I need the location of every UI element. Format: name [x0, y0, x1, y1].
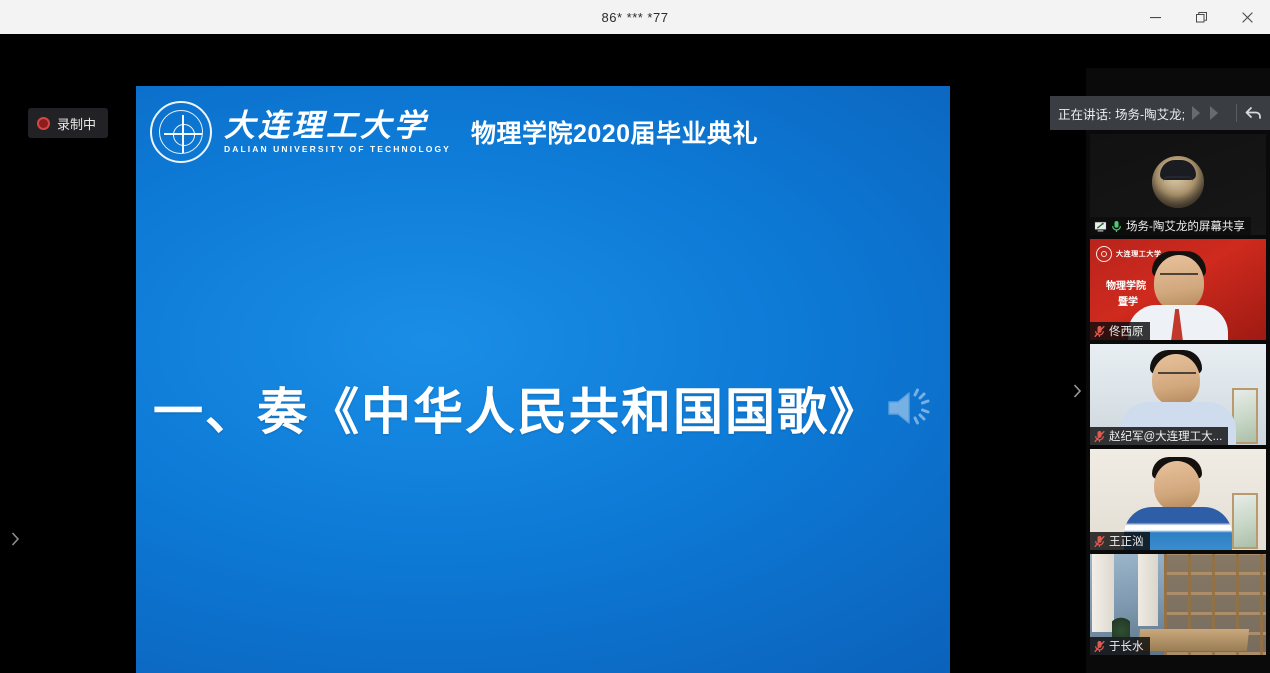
slide-title: 一、奏《中华人民共和国国歌》 — [153, 372, 881, 444]
chevron-right-icon — [1073, 384, 1082, 398]
university-name-cn: 大连理工大学 — [224, 110, 451, 143]
slide-header: 大连理工大学 DALIAN UNIVERSITY OF TECHNOLOGY 物… — [136, 86, 950, 178]
person-glasses — [1160, 273, 1198, 281]
avatar — [1152, 156, 1204, 208]
screen-share-icon — [1094, 221, 1107, 232]
university-logo: 大连理工大学 DALIAN UNIVERSITY OF TECHNOLOGY — [150, 101, 451, 163]
minimize-button[interactable] — [1132, 0, 1178, 34]
active-speaker-bar: 正在讲话: 场务-陶艾龙; — [1050, 96, 1270, 130]
undo-arrow-icon[interactable] — [1245, 105, 1262, 121]
table — [1138, 629, 1249, 651]
participant-label: 佟西原 — [1090, 322, 1150, 340]
participant-label: 于长水 — [1090, 637, 1150, 655]
list-item[interactable]: 王正汹 — [1090, 449, 1266, 550]
person-head — [1152, 354, 1200, 406]
restore-button[interactable] — [1178, 0, 1224, 34]
participant-name: 于长水 — [1109, 638, 1144, 654]
speaker-sound-icon — [885, 384, 933, 432]
minimize-icon — [1150, 12, 1161, 23]
mic-muted-icon — [1094, 535, 1105, 548]
university-wordmark: 大连理工大学 DALIAN UNIVERSITY OF TECHNOLOGY — [224, 110, 451, 155]
university-name-en: DALIAN UNIVERSITY OF TECHNOLOGY — [224, 144, 451, 154]
toolbar-divider — [1236, 104, 1237, 122]
shared-screen-slide[interactable]: 大连理工大学 DALIAN UNIVERSITY OF TECHNOLOGY 物… — [136, 86, 950, 673]
slide-heading: 物理学院2020届毕业典礼 — [471, 114, 758, 150]
title-bar: 86* *** *77 — [0, 0, 1270, 34]
person-glasses — [1158, 372, 1196, 380]
meeting-id-title: 86* *** *77 — [602, 10, 669, 25]
double-chevron-icon[interactable] — [1191, 104, 1226, 122]
recording-dot-icon — [37, 117, 50, 130]
participant-label: 王正汹 — [1090, 532, 1150, 550]
mic-icon — [1111, 220, 1122, 233]
participant-name: 赵纪军@大连理工大... — [1109, 428, 1222, 444]
person-head — [1154, 255, 1204, 311]
meeting-stage: 录制中 大连理工大学 DALIAN UNIVERSITY OF TECHNOLO… — [0, 34, 1270, 673]
participant-name: 王正汹 — [1109, 533, 1144, 549]
mic-muted-icon — [1094, 325, 1105, 338]
meeting-window: 86* *** *77 录制中 — [0, 0, 1270, 673]
window-controls — [1132, 0, 1270, 34]
banner-line-2: 暨学 — [1118, 293, 1138, 308]
participant-label: 场务-陶艾龙的屏幕共享 — [1090, 217, 1251, 235]
list-item[interactable]: 大连理工大学 物理学院 暨学 二〇 — [1090, 239, 1266, 340]
curtain — [1138, 554, 1158, 626]
list-item[interactable]: 赵纪军@大连理工大... — [1090, 344, 1266, 445]
mic-muted-icon — [1094, 430, 1105, 443]
recording-indicator: 录制中 — [28, 108, 108, 138]
person-head — [1154, 461, 1200, 511]
university-seal-icon — [150, 101, 212, 163]
room-mirror — [1232, 493, 1258, 549]
participant-name: 佟西原 — [1109, 323, 1144, 339]
thumbnail-list: 场务-陶艾龙的屏幕共享 大连理工大学 物理学院 暨学 二〇 — [1090, 134, 1266, 659]
slide-title-row: 一、奏《中华人民共和国国歌》 — [136, 372, 950, 444]
chevron-right-icon — [11, 532, 20, 546]
restore-icon — [1196, 12, 1207, 23]
banner-logo: 大连理工大学 — [1096, 246, 1162, 262]
recording-label: 录制中 — [57, 114, 96, 133]
active-speaker-label: 正在讲话: 场务-陶艾龙; — [1058, 104, 1185, 123]
thumbnail-panel-collapse-handle[interactable] — [1068, 374, 1086, 408]
list-item[interactable]: 场务-陶艾龙的屏幕共享 — [1090, 134, 1266, 235]
left-panel-expand-handle[interactable] — [6, 524, 24, 554]
list-item[interactable]: 于长水 — [1090, 554, 1266, 655]
curtain — [1092, 554, 1114, 632]
participant-label: 赵纪军@大连理工大... — [1090, 427, 1228, 445]
close-button[interactable] — [1224, 0, 1270, 34]
plant — [1112, 615, 1130, 637]
banner-logo-text: 大连理工大学 — [1116, 249, 1162, 259]
close-icon — [1242, 12, 1253, 23]
banner-line-1: 物理学院 — [1106, 277, 1146, 292]
participant-name: 场务-陶艾龙的屏幕共享 — [1126, 218, 1245, 234]
university-seal-icon — [1096, 246, 1112, 262]
mic-muted-icon — [1094, 640, 1105, 653]
